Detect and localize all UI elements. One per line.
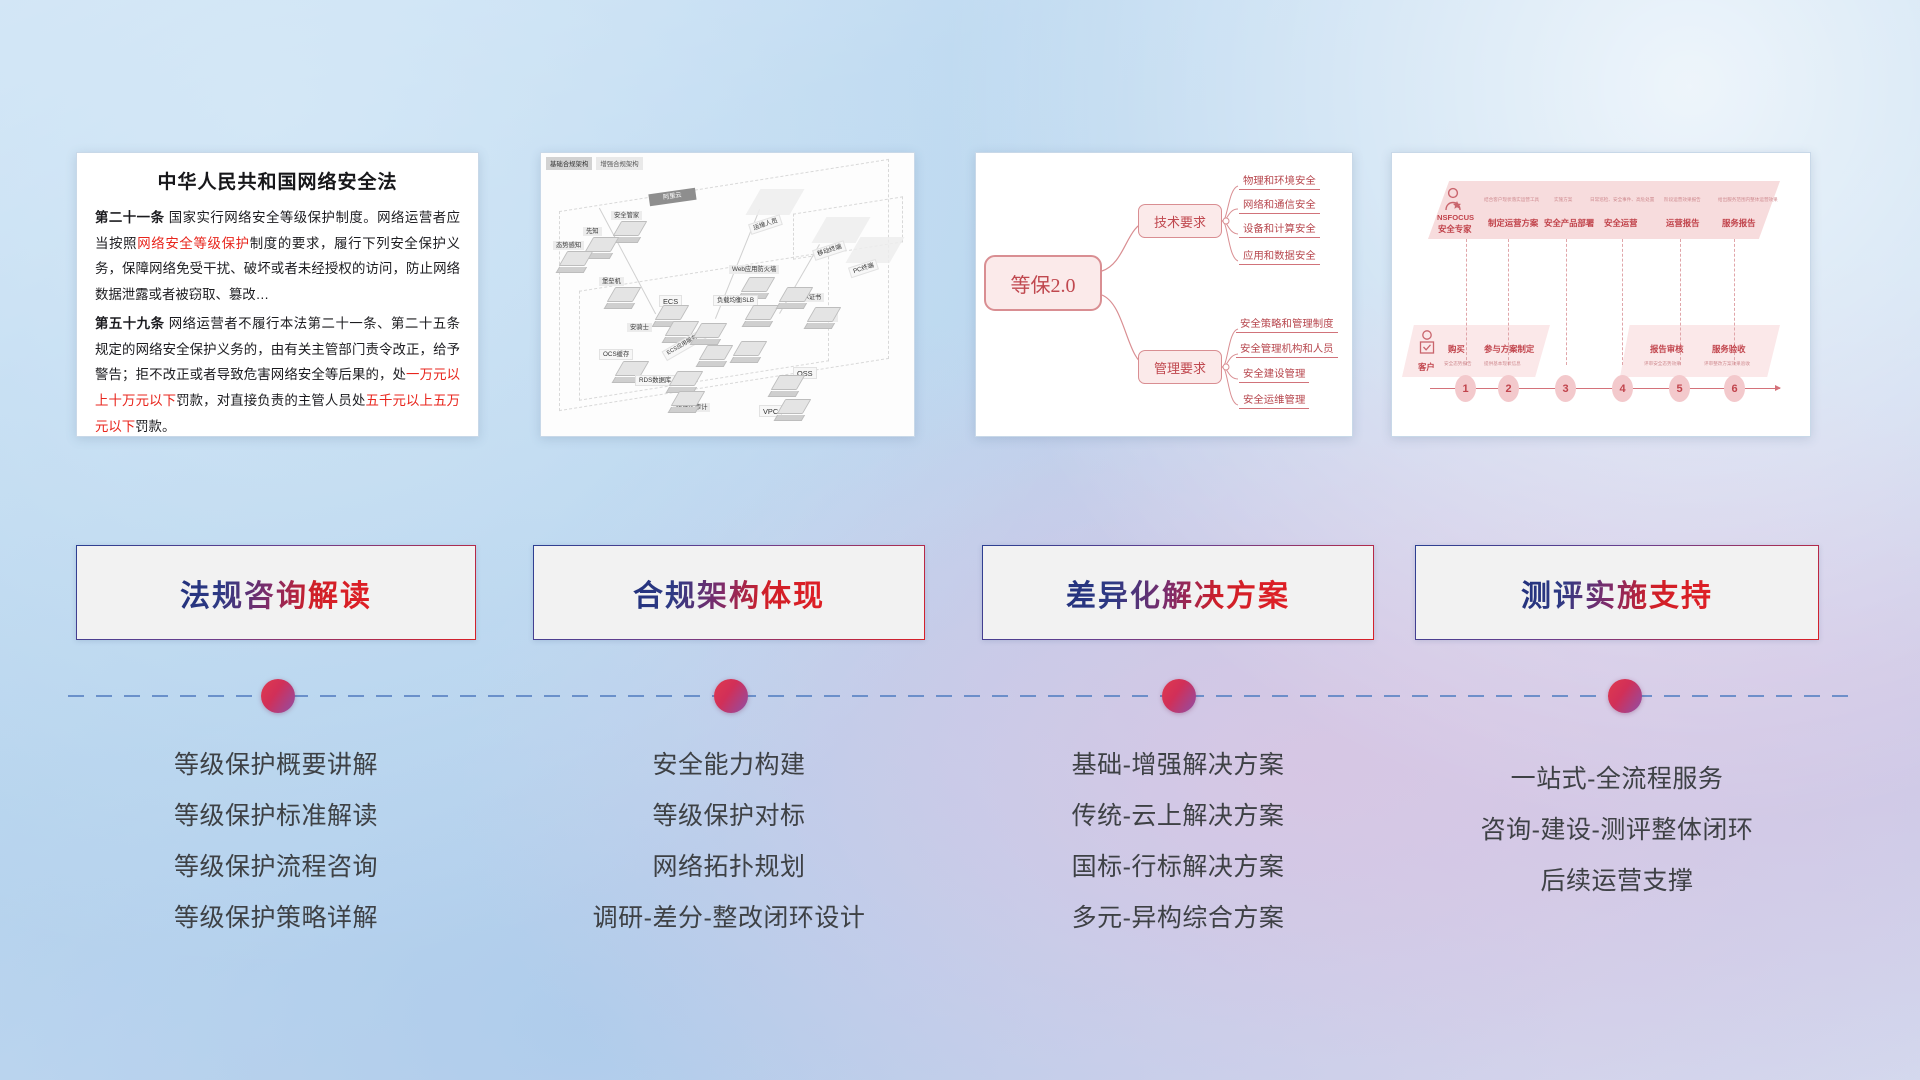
detail-lists-row: 等级保护概要讲解 等级保护标准解读 等级保护流程咨询 等级保护策略详解 安全能力…	[0, 740, 1920, 960]
article-59-part-b: 罚款，对直接负责的主管人员处	[176, 393, 365, 408]
step-marker-4: 4	[1612, 375, 1633, 402]
mindmap-diagram: 等保2.0 技术要求 管理要求 物理和环境安全	[976, 153, 1352, 436]
expert-person-icon	[1444, 187, 1464, 213]
tab-basic-architecture[interactable]: 基础合规架构	[546, 157, 592, 170]
list-item: 一站式-全流程服务	[1415, 754, 1819, 805]
icon-server-slb	[749, 305, 775, 320]
list-item: 网络拓扑规划	[533, 842, 925, 893]
top-sub-5: 给出服务范围内整体运营效果	[1718, 197, 1778, 203]
icon-server-rds	[673, 371, 699, 386]
card-dengbao-mindmap: 等保2.0 技术要求 管理要求 物理和环境安全	[975, 152, 1353, 437]
law-article-21: 第二十一条 国家实行网络安全等级保护制度。网络运营者应当按照网络安全等级保护制度…	[95, 205, 460, 308]
icon-server-bastion	[611, 287, 637, 302]
headline-box-1[interactable]: 法规咨询解读	[76, 545, 476, 640]
band-expert-lane	[1428, 181, 1780, 239]
mindmap-leaf-m1: 安全策略和管理制度	[1236, 318, 1338, 333]
law-title: 中华人民共和国网络安全法	[95, 167, 460, 194]
law-text-body: 中华人民共和国网络安全法 第二十一条 国家实行网络安全等级保护制度。网络运营者应…	[77, 153, 478, 437]
top-title-2: 安全产品部署	[1544, 217, 1594, 229]
article-21-highlight: 网络安全等级保护	[137, 236, 250, 251]
mindmap-leaf-t4: 应用和数据安全	[1239, 250, 1320, 265]
bottom-title-2: 参与方案制定	[1484, 343, 1534, 355]
expert-brand-label: NSFOCUS	[1437, 213, 1474, 222]
bottom-title-3: 报告审核	[1650, 343, 1684, 355]
icon-server-butler	[617, 221, 643, 236]
node-label-xianzhi: 先知	[583, 227, 602, 236]
band-customer-lane-right	[1620, 325, 1780, 377]
icon-server-situational	[563, 251, 589, 266]
headline-box-2[interactable]: 合规架构体现	[533, 545, 925, 640]
list-item: 基础-增强解决方案	[982, 740, 1374, 791]
top-title-4: 运营报告	[1666, 217, 1700, 229]
top-title-3: 安全运营	[1604, 217, 1638, 229]
icon-server-oss	[775, 375, 801, 390]
list-item: 多元-异构综合方案	[982, 893, 1374, 944]
article-59-label: 第五十九条	[95, 316, 164, 331]
card-cybersecurity-law: 中华人民共和国网络安全法 第二十一条 国家实行网络安全等级保护制度。网络运营者应…	[76, 152, 479, 437]
timeline-dot-2[interactable]	[714, 679, 748, 713]
bottom-sub-2: 提供基本现状信息	[1484, 361, 1521, 367]
timeline-dot-3[interactable]	[1162, 679, 1196, 713]
icon-server-app-3	[703, 345, 729, 360]
article-21-label: 第二十一条	[95, 210, 164, 225]
detail-list-1: 等级保护概要讲解 等级保护标准解读 等级保护流程咨询 等级保护策略详解	[76, 740, 476, 944]
icon-server-app-1	[697, 323, 723, 338]
mindmap-leaf-t3: 设备和计算安全	[1239, 223, 1320, 238]
nsfocus-timeline-diagram: NSFOCUS 安全专家 结合客户现状落实运营工具 制定运营方案 实施方案 安全…	[1392, 153, 1810, 436]
icon-server-waf	[745, 277, 771, 292]
node-label-waf: Web应用防火墙	[729, 265, 779, 274]
node-label-bastion-host: 堡垒机	[599, 277, 624, 286]
step-marker-2: 2	[1498, 375, 1519, 402]
mindmap-leaf-t1: 物理和环境安全	[1239, 175, 1320, 190]
list-item: 等级保护流程咨询	[76, 842, 476, 893]
icon-server-xianzhi	[589, 237, 615, 252]
card-nsfocus-service-flow: NSFOCUS 安全专家 结合客户现状落实运营工具 制定运营方案 实施方案 安全…	[1391, 152, 1811, 437]
node-label-anqishi: 安骑士	[627, 323, 652, 332]
icon-server-app-2	[737, 341, 763, 356]
mindmap-leaf-t2: 网络和通信安全	[1239, 199, 1320, 214]
timeline-dot-1[interactable]	[261, 679, 295, 713]
node-label-security-butler: 安全管家	[611, 211, 642, 220]
list-item: 调研-差分-整改闭环设计	[533, 893, 925, 944]
top-title-1: 制定运营方案	[1488, 217, 1538, 229]
slide-canvas: 中华人民共和国网络安全法 第二十一条 国家实行网络安全等级保护制度。网络运营者应…	[0, 0, 1920, 1080]
headline-box-4[interactable]: 测评实施支持	[1415, 545, 1819, 640]
detail-list-2: 安全能力构建 等级保护对标 网络拓扑规划 调研-差分-整改闭环设计	[533, 740, 925, 944]
detail-list-4: 一站式-全流程服务 咨询-建设-测评整体闭环 后续运营支撑	[1415, 754, 1819, 907]
mindmap-leaf-m3: 安全建设管理	[1239, 368, 1309, 383]
list-item: 传统-云上解决方案	[982, 791, 1374, 842]
bottom-sub-1: 安全态势报告	[1444, 361, 1472, 367]
tick-3	[1566, 239, 1567, 365]
architecture-tabs: 基础合规架构 增强合规架构	[546, 157, 643, 170]
headline-label-1: 法规咨询解读	[180, 571, 372, 615]
mindmap-leaf-m4: 安全运维管理	[1239, 394, 1309, 409]
tick-4	[1622, 239, 1623, 365]
bottom-title-1: 购买	[1448, 343, 1465, 355]
top-title-5: 服务报告	[1722, 217, 1756, 229]
top-sub-3: 日常巡检、安全事件、高危处置	[1590, 197, 1654, 203]
timeline-dot-4[interactable]	[1608, 679, 1642, 713]
mindmap-branch-technical: 技术要求	[1138, 204, 1222, 238]
list-item: 等级保护标准解读	[76, 791, 476, 842]
node-label-situational-awareness: 态势感知	[553, 241, 584, 250]
icon-server-ca	[783, 287, 809, 302]
customer-role-label: 客户	[1418, 361, 1435, 373]
expert-role-label: 安全专家	[1438, 223, 1472, 235]
list-item: 后续运营支撑	[1415, 856, 1819, 907]
detail-list-3: 基础-增强解决方案 传统-云上解决方案 国标-行标解决方案 多元-异构综合方案	[982, 740, 1374, 944]
law-article-59: 第五十九条 网络运营者不履行本法第二十一条、第二十五条规定的网络安全保护义务的，…	[95, 311, 460, 437]
bottom-title-4: 服务验收	[1712, 343, 1746, 355]
bottom-sub-3: 评审安全态势效果	[1644, 361, 1681, 367]
list-item: 国标-行标解决方案	[982, 842, 1374, 893]
tick-1	[1466, 239, 1467, 365]
customer-person-icon	[1418, 329, 1438, 359]
top-sub-4: 阶段运营效果报告	[1664, 197, 1701, 203]
list-item: 等级保护对标	[533, 791, 925, 842]
top-sub-1: 结合客户现状落实运营工具	[1484, 197, 1539, 203]
timeline-dashed-line	[68, 695, 1852, 697]
step-marker-5: 5	[1669, 375, 1690, 402]
icon-server-vpc	[781, 399, 807, 414]
reference-cards-row: 中华人民共和国网络安全法 第二十一条 国家实行网络安全等级保护制度。网络运营者应…	[0, 152, 1920, 442]
headline-box-3[interactable]: 差异化解决方案	[982, 545, 1374, 640]
list-item: 等级保护概要讲解	[76, 740, 476, 791]
node-label-ocs-cache: OCS缓存	[599, 349, 633, 360]
list-item: 安全能力构建	[533, 740, 925, 791]
list-item: 等级保护策略详解	[76, 893, 476, 944]
headline-label-2: 合规架构体现	[633, 571, 825, 615]
timeline-track	[68, 694, 1852, 698]
article-59-part-c: 罚款。	[135, 419, 175, 434]
step-marker-3: 3	[1555, 375, 1576, 402]
list-item: 咨询-建设-测评整体闭环	[1415, 805, 1819, 856]
mindmap-branch-management: 管理要求	[1138, 350, 1222, 384]
headline-boxes-row: 法规咨询解读 合规架构体现 差异化解决方案 测评实施支持	[0, 545, 1920, 645]
architecture-diagram: 基础合规架构 增强合规架构 阿里云 安全管家 先知 态势感知 堡垒机 ECS	[541, 153, 914, 436]
step-marker-1: 1	[1455, 375, 1476, 402]
headline-label-4: 测评实施支持	[1521, 571, 1713, 615]
headline-label-3: 差异化解决方案	[1066, 571, 1290, 615]
icon-server-high-ip	[811, 307, 837, 322]
tab-enhanced-architecture[interactable]: 增强合规架构	[596, 157, 642, 170]
card-compliance-architecture: 基础合规架构 增强合规架构 阿里云 安全管家 先知 态势感知 堡垒机 ECS	[540, 152, 915, 437]
icon-server-ocs	[619, 361, 645, 376]
top-sub-2: 实施方案	[1554, 197, 1572, 203]
bottom-sub-4: 评审整改方案效果验收	[1704, 361, 1750, 367]
icon-server-db-audit	[675, 391, 701, 406]
mindmap-leaf-m2: 安全管理机构和人员	[1236, 343, 1338, 358]
icon-server-ecs	[659, 305, 685, 320]
step-marker-6: 6	[1724, 375, 1745, 402]
